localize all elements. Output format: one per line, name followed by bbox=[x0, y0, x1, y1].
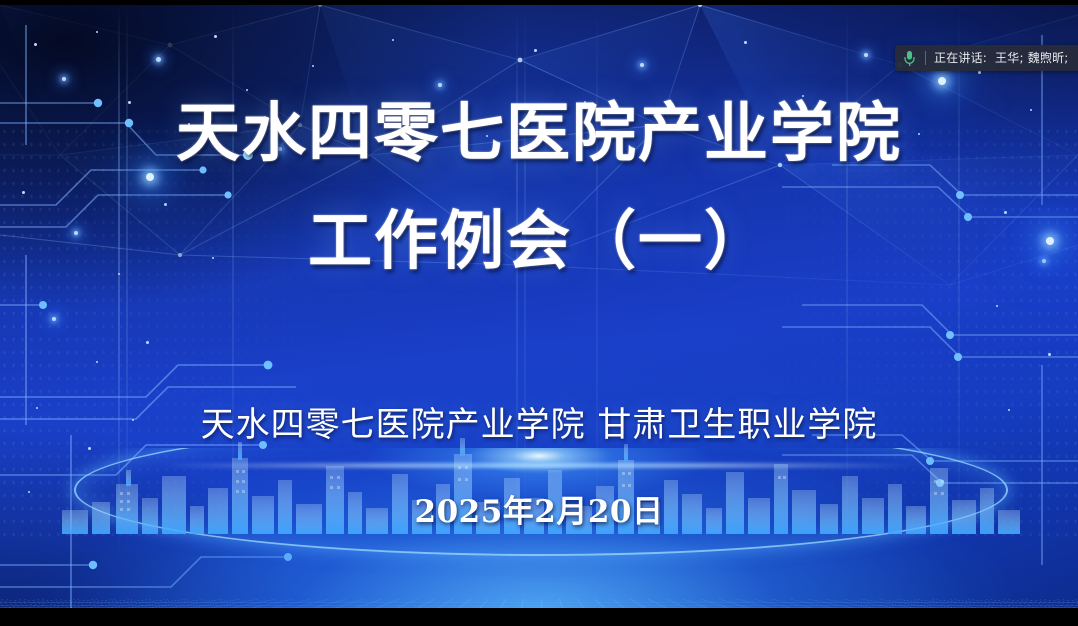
horizon-flare bbox=[159, 463, 919, 468]
corner-vignette-top-left bbox=[0, 5, 1078, 608]
light-flare-node bbox=[146, 173, 154, 181]
vertical-light-streaks bbox=[0, 5, 1078, 608]
slide-subtitle: 天水四零七医院产业学院 甘肃卫生职业学院 bbox=[0, 404, 1078, 446]
light-flare-node bbox=[1046, 237, 1054, 245]
active-speaker-badge[interactable]: 正在讲话: 王华; 魏煦昕; bbox=[895, 45, 1078, 71]
letterbox-bar-bottom bbox=[0, 608, 1078, 626]
speaker-names: 王华; 魏煦昕; bbox=[995, 45, 1069, 71]
circuit-trace-left bbox=[0, 5, 296, 608]
light-flare-node bbox=[938, 77, 946, 85]
badge-divider bbox=[925, 51, 926, 65]
slide-title-line-2: 工作例会（一） bbox=[0, 205, 1078, 279]
meeting-screen-share-stage: 天水四零七医院产业学院 工作例会（一） 天水四零七医院产业学院 甘肃卫生职业学院… bbox=[0, 0, 1078, 626]
corner-vignette-group bbox=[0, 5, 1078, 608]
circuit-trace-right bbox=[782, 5, 1078, 608]
ground-light-wash bbox=[0, 448, 1078, 608]
perspective-ground-plane bbox=[0, 448, 1078, 608]
speaking-label: 正在讲话: bbox=[934, 45, 987, 71]
ground-grid bbox=[0, 599, 1078, 608]
microphone-icon bbox=[903, 50, 916, 67]
ground-ellipse-ring bbox=[74, 448, 1008, 556]
presentation-slide: 天水四零七医院产业学院 工作例会（一） 天水四零七医院产业学院 甘肃卫生职业学院… bbox=[0, 5, 1078, 608]
star-particle-field bbox=[0, 5, 1078, 608]
slide-title-line-1: 天水四零七医院产业学院 bbox=[0, 97, 1078, 171]
slide-date: 2025年2月20日 bbox=[0, 492, 1078, 532]
center-light-burst bbox=[299, 448, 779, 516]
dot-matrix-texture bbox=[0, 125, 1078, 545]
city-skyline-silhouette bbox=[0, 414, 1078, 534]
